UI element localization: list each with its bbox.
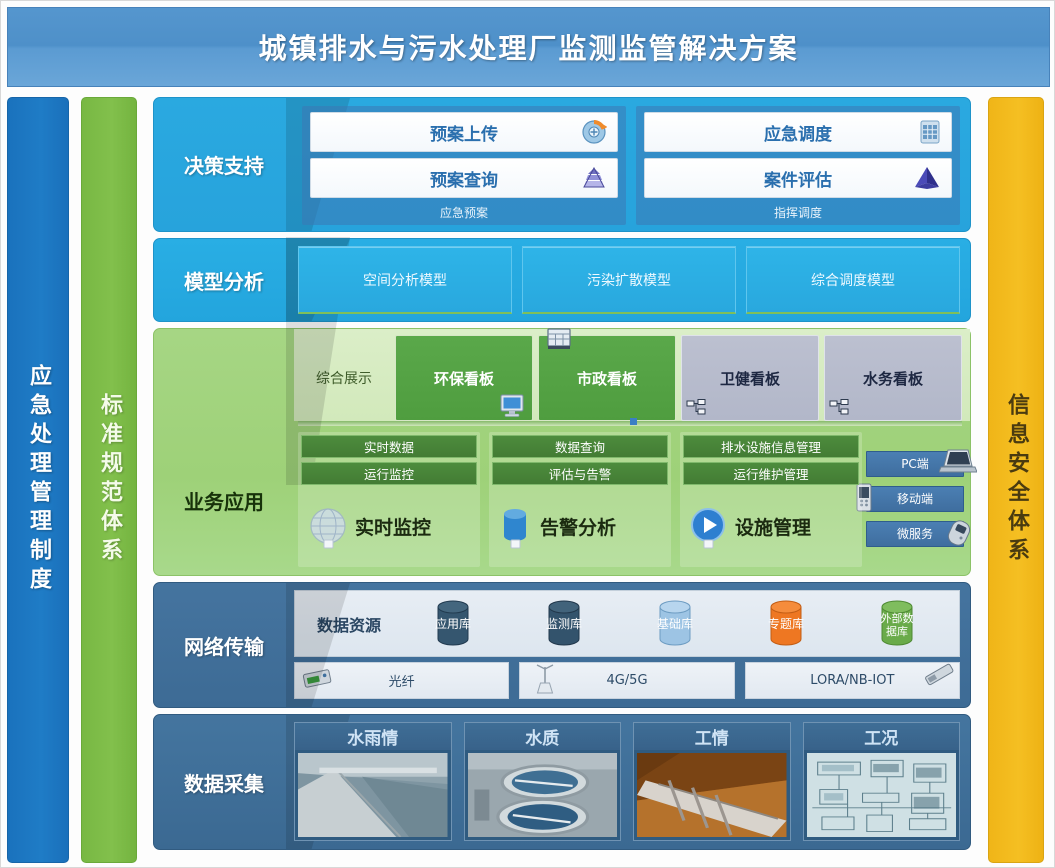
page-title: 城镇排水与污水处理厂监测监管解决方案 [258,27,798,67]
layer-decision-support: 决策支持 预案上传 [153,97,971,232]
database-monitoring-label: 监测库 [546,616,582,631]
layer-network-transmission: 网络传输 数据资源 应用库 [153,582,971,708]
business-button-drainage-facility-info-label: 排水设施信息管理 [721,437,821,456]
business-button-operation-monitor-label: 运行监控 [364,464,414,483]
page-title-banner: 城镇排水与污水处理厂监测监管解决方案 [7,7,1050,87]
business-main-facility-management-label: 设施管理 [735,513,811,540]
layer-model-analysis: 模型分析 空间分析模型 污染扩散模型 综合调度模型 [153,238,971,322]
business-button-realtime-data-label: 实时数据 [364,437,414,456]
decision-group-emergency-plan: 预案上传 预案查询 [302,106,626,225]
data-card-water-quality-label: 水质 [465,723,621,750]
globe-icon [305,504,351,550]
business-column-facility: 排水设施信息管理 运行维护管理 [680,432,862,567]
layer-network-transmission-label: 网络传输 [154,583,294,707]
monitor-icon [498,392,526,418]
refresh-circle-icon [581,119,607,145]
data-card-operating-condition[interactable]: 工况 [803,722,961,841]
layer-data-collection: 数据采集 水雨情 [153,714,971,850]
database-thematic-label: 专题库 [768,616,804,631]
network-link-lora[interactable]: LORA/NB-IOT [745,662,960,699]
pyramid-dark-icon [913,165,941,191]
database-thematic[interactable]: 专题库 [733,595,840,653]
button-emergency-dispatch-label: 应急调度 [764,120,832,145]
network-node-icon [829,399,849,417]
database-basic[interactable]: 基础库 [621,595,728,653]
button-plan-query[interactable]: 预案查询 [310,158,618,198]
model-card-integrated-dispatch-label: 综合调度模型 [811,270,895,290]
architecture-diagram: 城镇排水与污水处理厂监测监管解决方案 应急处理管理制度 标准规范体系 信息安全体… [0,0,1055,868]
window-icon [545,326,573,352]
dashboard-row-label: 综合展示 [298,335,390,421]
network-link-lora-label: LORA/NB-IOT [810,673,894,688]
data-card-rainfall-label: 水雨情 [295,723,451,750]
layer-model-analysis-label: 模型分析 [154,239,294,321]
network-link-cellular-label: 4G/5G [606,673,647,688]
data-card-works-status-label: 工情 [634,723,790,750]
network-node-icon [686,399,706,417]
svg-text:外部数: 外部数 [881,611,914,625]
pyramid-light-icon [581,166,607,190]
dashboard-row: 综合展示 环保看板 市政看板 [294,329,970,421]
laptop-icon [939,446,977,476]
model-card-pollution-diffusion[interactable]: 污染扩散模型 [522,246,736,314]
network-link-fiber[interactable]: 光纤 [294,662,509,699]
business-main-realtime-monitoring[interactable]: 实时监控 [301,489,477,564]
pillar-security-label: 信息安全体系 [1000,393,1032,567]
buried-pipeline-photo [637,753,787,837]
layer-stack: 决策支持 预案上传 [153,97,971,856]
data-card-operating-condition-label: 工况 [804,723,960,750]
model-card-spatial-label: 空间分析模型 [363,270,447,290]
data-card-rainfall[interactable]: 水雨情 [294,722,452,841]
database-monitoring[interactable]: 监测库 [510,595,617,653]
button-plan-upload-label: 预案上传 [430,120,498,145]
data-resource-label: 数据资源 [303,612,395,636]
device-button-mobile[interactable]: 移动端 [866,486,964,512]
calendar-grid-icon [919,119,941,145]
pillar-standards-label: 标准规范体系 [93,393,125,567]
router-icon [299,665,337,693]
dashboard-card-municipal-label: 市政看板 [577,368,637,389]
data-card-works-status[interactable]: 工情 [633,722,791,841]
business-button-om-management[interactable]: 运行维护管理 [683,462,859,485]
network-link-cellular[interactable]: 4G/5G [519,662,734,699]
canal-embankment-photo [298,753,448,837]
dashboard-card-environment[interactable]: 环保看板 [395,335,533,421]
business-button-assessment-alarm[interactable]: 评估与告警 [492,462,668,485]
device-button-microservice-label: 微服务 [897,525,933,542]
model-card-integrated-dispatch[interactable]: 综合调度模型 [746,246,960,314]
sedimentation-tanks-photo [468,753,618,837]
play-circle-icon [687,504,731,550]
button-plan-upload[interactable]: 预案上传 [310,112,618,152]
layer-business-application: 综合展示 环保看板 市政看板 [153,328,971,576]
database-application-label: 应用库 [435,616,471,631]
handheld-device-icon [943,518,977,548]
network-link-fiber-label: 光纤 [389,671,415,690]
button-emergency-dispatch[interactable]: 应急调度 [644,112,952,152]
business-button-data-query-label: 数据查询 [555,437,605,456]
button-case-assessment[interactable]: 案件评估 [644,158,952,198]
layer-data-collection-label: 数据采集 [154,715,294,849]
business-main-alarm-analysis-label: 告警分析 [540,513,616,540]
dashboard-card-health[interactable]: 卫健看板 [681,335,819,421]
device-button-mobile-label: 移动端 [897,490,933,507]
business-column-realtime: 实时数据 运行监控 [298,432,480,567]
antenna-icon [532,661,558,695]
business-main-alarm-analysis[interactable]: 告警分析 [492,489,668,564]
pillar-emergency-management: 应急处理管理制度 [7,97,69,863]
business-button-om-management-label: 运行维护管理 [733,464,808,483]
business-column-query: 数据查询 评估与告警 [489,432,671,567]
decision-group-command-dispatch-caption: 指挥调度 [644,204,952,223]
scada-schematic-photo [807,753,957,837]
business-button-realtime-data[interactable]: 实时数据 [301,435,477,458]
layer-decision-support-label: 决策支持 [154,98,294,231]
dashboard-card-municipal[interactable]: 市政看板 [538,335,676,421]
pillar-information-security: 信息安全体系 [988,97,1044,863]
model-card-spatial[interactable]: 空间分析模型 [298,246,512,314]
business-button-assessment-alarm-label: 评估与告警 [549,464,612,483]
button-case-assessment-label: 案件评估 [764,166,832,191]
database-external[interactable]: 外部数 据库 [844,595,951,653]
device-endpoints-group: PC端 移动端 [866,426,970,575]
layer-business-application-label: 业务应用 [154,426,294,575]
dashboard-card-water-affairs-label: 水务看板 [863,368,923,389]
button-plan-query-label: 预案查询 [430,166,498,191]
business-button-data-query[interactable]: 数据查询 [492,435,668,458]
database-external-label: 据库 [886,624,908,638]
business-button-drainage-facility-info[interactable]: 排水设施信息管理 [683,435,859,458]
dashboard-card-environment-label: 环保看板 [434,368,494,389]
dashboard-card-health-label: 卫健看板 [720,368,780,389]
business-main-facility-management[interactable]: 设施管理 [683,489,859,564]
data-resource-panel: 数据资源 应用库 监测库 [294,590,960,657]
device-button-pc[interactable]: PC端 [866,451,964,477]
database-cylinder-icon [496,504,536,550]
pillar-standards-system: 标准规范体系 [81,97,137,863]
database-basic-label: 基础库 [657,616,693,631]
model-card-pollution-diffusion-label: 污染扩散模型 [587,270,671,290]
decision-group-command-dispatch: 应急调度 案件评估 [636,106,960,225]
business-button-operation-monitor[interactable]: 运行监控 [301,462,477,485]
business-main-realtime-monitoring-label: 实时监控 [355,513,431,540]
database-application[interactable]: 应用库 [399,595,506,653]
pillar-emergency-label: 应急处理管理制度 [22,364,54,596]
sensor-module-icon [919,660,959,690]
dashboard-card-water-affairs[interactable]: 水务看板 [824,335,962,421]
device-button-microservice[interactable]: 微服务 [866,521,964,547]
decision-group-emergency-plan-caption: 应急预案 [310,204,618,223]
data-card-water-quality[interactable]: 水质 [464,722,622,841]
device-button-pc-label: PC端 [901,455,929,472]
